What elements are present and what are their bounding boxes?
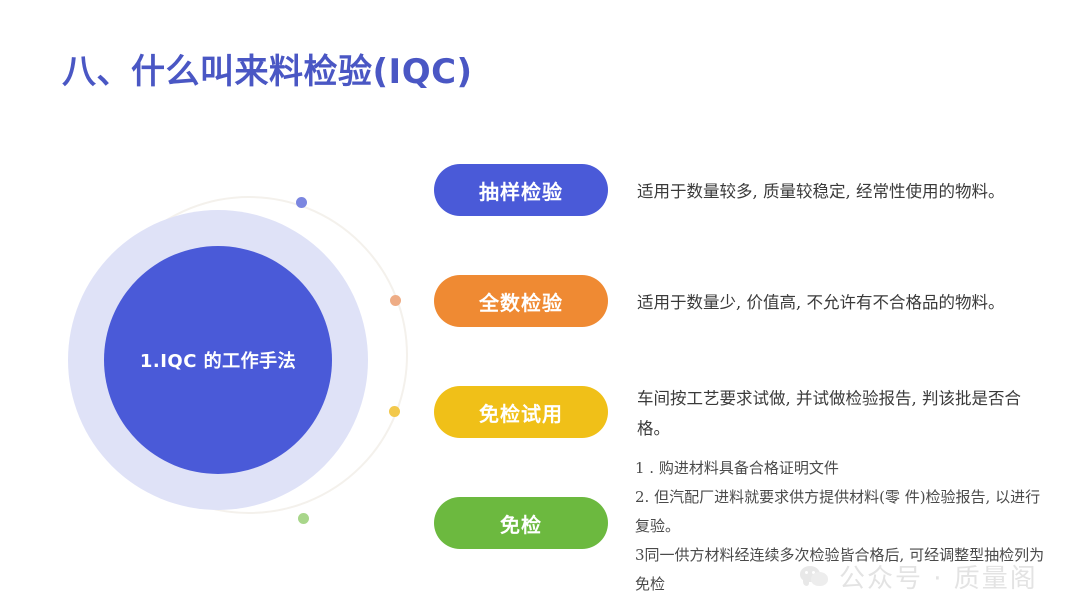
iqc-circle-diagram: 1.IQC 的工作手法 — [62, 188, 412, 538]
method-pill-exempt-trial[interactable]: 免检试用 — [434, 386, 608, 438]
method-pill-exempt[interactable]: 免检 — [434, 497, 608, 549]
orbit-dot-orange-icon — [390, 295, 401, 306]
circle-label: 1.IQC 的工作手法 — [140, 347, 296, 373]
method-description-exempt-trial: 车间按工艺要求试做, 并试做检验报告, 判该批是否合格。 — [637, 384, 1037, 444]
orbit-dot-yellow-icon — [389, 406, 400, 417]
circle-inner-disc: 1.IQC 的工作手法 — [104, 246, 332, 474]
exemption-notes-list: 1 . 购进材料具备合格证明文件 2. 但汽配厂进料就要求供方提供材料(零 件)… — [635, 454, 1045, 599]
orbit-dot-green-icon — [298, 513, 309, 524]
method-pill-label: 全数检验 — [479, 287, 563, 316]
list-item: 1 . 购进材料具备合格证明文件 — [635, 454, 1045, 483]
orbit-dot-blue-icon — [296, 197, 307, 208]
method-description-sampling-inspection: 适用于数量较多, 质量较稳定, 经常性使用的物料。 — [637, 177, 1037, 207]
method-pill-label: 抽样检验 — [479, 176, 563, 205]
list-item: 2. 但汽配厂进料就要求供方提供材料(零 件)检验报告, 以进行复验。 — [635, 483, 1045, 541]
method-pill-label: 免检试用 — [479, 398, 563, 427]
method-pill-sampling-inspection[interactable]: 抽样检验 — [434, 164, 608, 216]
method-pill-label: 免检 — [500, 509, 542, 538]
page-title: 八、什么叫来料检验(IQC) — [62, 44, 473, 93]
method-description-full-inspection: 适用于数量少, 价值高, 不允许有不合格品的物料。 — [637, 288, 1037, 318]
list-item: 3同一供方材料经连续多次检验皆合格后, 可经调整型抽检列为免检 — [635, 541, 1045, 599]
method-pill-full-inspection[interactable]: 全数检验 — [434, 275, 608, 327]
